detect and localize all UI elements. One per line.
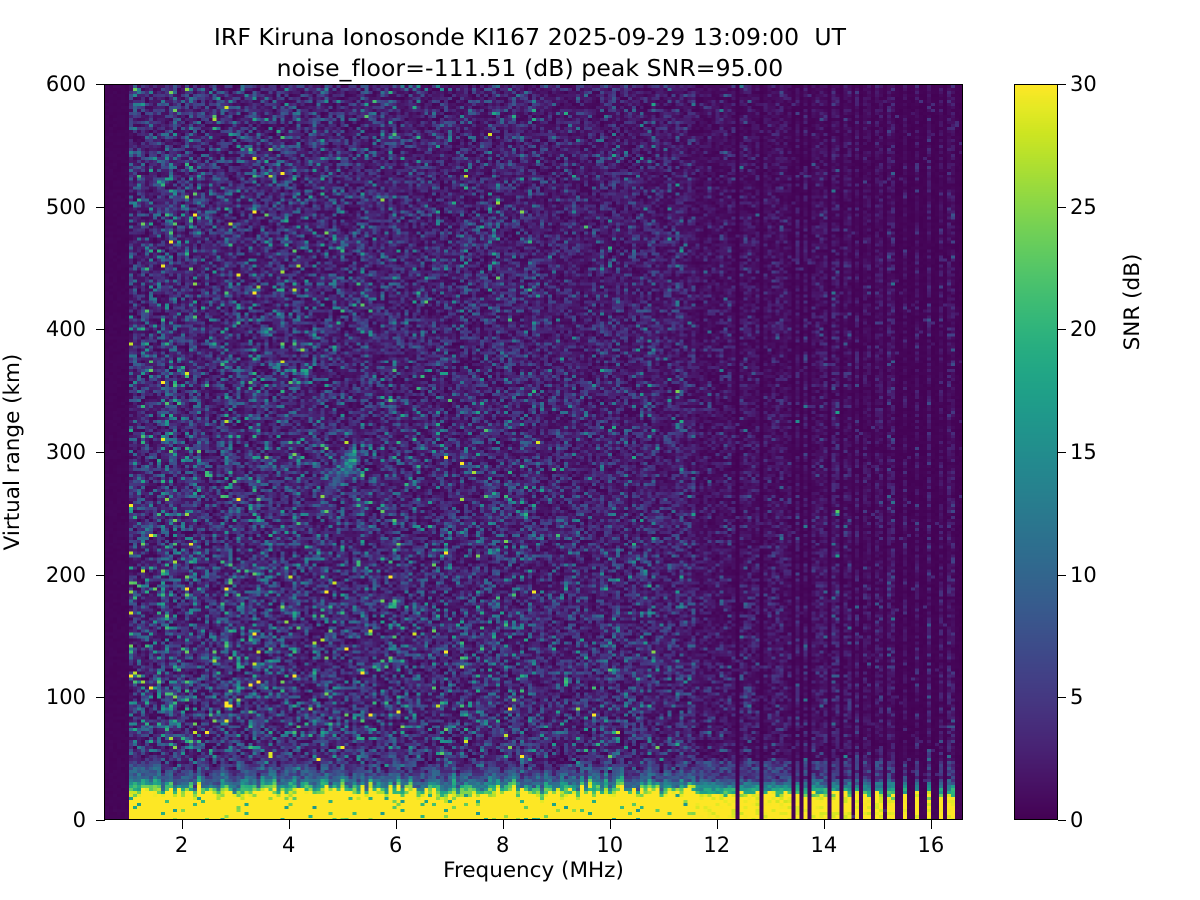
y-tick-200 — [96, 575, 105, 576]
y-tick-label-200: 200 — [28, 563, 86, 587]
y-tick-label-0: 0 — [28, 808, 86, 832]
x-axis-label: Frequency (MHz) — [104, 858, 963, 883]
y-tick-600 — [96, 84, 105, 85]
colorbar-label: SNR (dB) — [1120, 152, 1145, 452]
colorbar-tick-0 — [1058, 820, 1066, 821]
colorbar-tick-20 — [1058, 329, 1066, 330]
x-tick-label-10: 10 — [575, 833, 645, 857]
x-tick-label-2: 2 — [147, 833, 217, 857]
x-tick-10 — [610, 820, 611, 829]
y-tick-400 — [96, 329, 105, 330]
x-tick-label-4: 4 — [254, 833, 324, 857]
colorbar-tick-label-0: 0 — [1070, 808, 1083, 832]
x-tick-4 — [289, 820, 290, 829]
x-tick-label-12: 12 — [682, 833, 752, 857]
colorbar — [1014, 84, 1058, 820]
colorbar-tick-label-30: 30 — [1070, 72, 1097, 96]
colorbar-tick-25 — [1058, 207, 1066, 208]
colorbar-tick-label-20: 20 — [1070, 317, 1097, 341]
x-tick-8 — [503, 820, 504, 829]
y-tick-label-600: 600 — [28, 72, 86, 96]
title-line-1: IRF Kiruna Ionosonde KI167 2025-09-29 13… — [0, 22, 1060, 53]
y-tick-label-400: 400 — [28, 317, 86, 341]
x-tick-16 — [931, 820, 932, 829]
ionogram-figure: IRF Kiruna Ionosonde KI167 2025-09-29 13… — [0, 0, 1200, 900]
x-tick-label-6: 6 — [361, 833, 431, 857]
x-tick-14 — [824, 820, 825, 829]
colorbar-gradient — [1015, 85, 1057, 819]
colorbar-tick-10 — [1058, 575, 1066, 576]
y-tick-0 — [96, 820, 105, 821]
colorbar-tick-label-25: 25 — [1070, 195, 1097, 219]
chart-title: IRF Kiruna Ionosonde KI167 2025-09-29 13… — [0, 22, 1060, 83]
x-tick-label-16: 16 — [896, 833, 966, 857]
y-tick-100 — [96, 697, 105, 698]
x-tick-6 — [396, 820, 397, 829]
y-tick-500 — [96, 207, 105, 208]
x-tick-12 — [717, 820, 718, 829]
colorbar-tick-15 — [1058, 452, 1066, 453]
colorbar-tick-label-10: 10 — [1070, 563, 1097, 587]
x-tick-label-8: 8 — [468, 833, 538, 857]
colorbar-tick-30 — [1058, 84, 1066, 85]
x-tick-2 — [182, 820, 183, 829]
y-tick-label-300: 300 — [28, 440, 86, 464]
title-line-2: noise_floor=-111.51 (dB) peak SNR=95.00 — [0, 53, 1060, 84]
y-tick-label-500: 500 — [28, 195, 86, 219]
colorbar-tick-label-5: 5 — [1070, 685, 1083, 709]
y-tick-300 — [96, 452, 105, 453]
x-tick-label-14: 14 — [789, 833, 859, 857]
y-axis-label: Virtual range (km) — [0, 302, 25, 602]
ionogram-heatmap — [105, 85, 962, 819]
plot-area — [104, 84, 963, 820]
colorbar-tick-5 — [1058, 697, 1066, 698]
colorbar-tick-label-15: 15 — [1070, 440, 1097, 464]
y-tick-label-100: 100 — [28, 685, 86, 709]
